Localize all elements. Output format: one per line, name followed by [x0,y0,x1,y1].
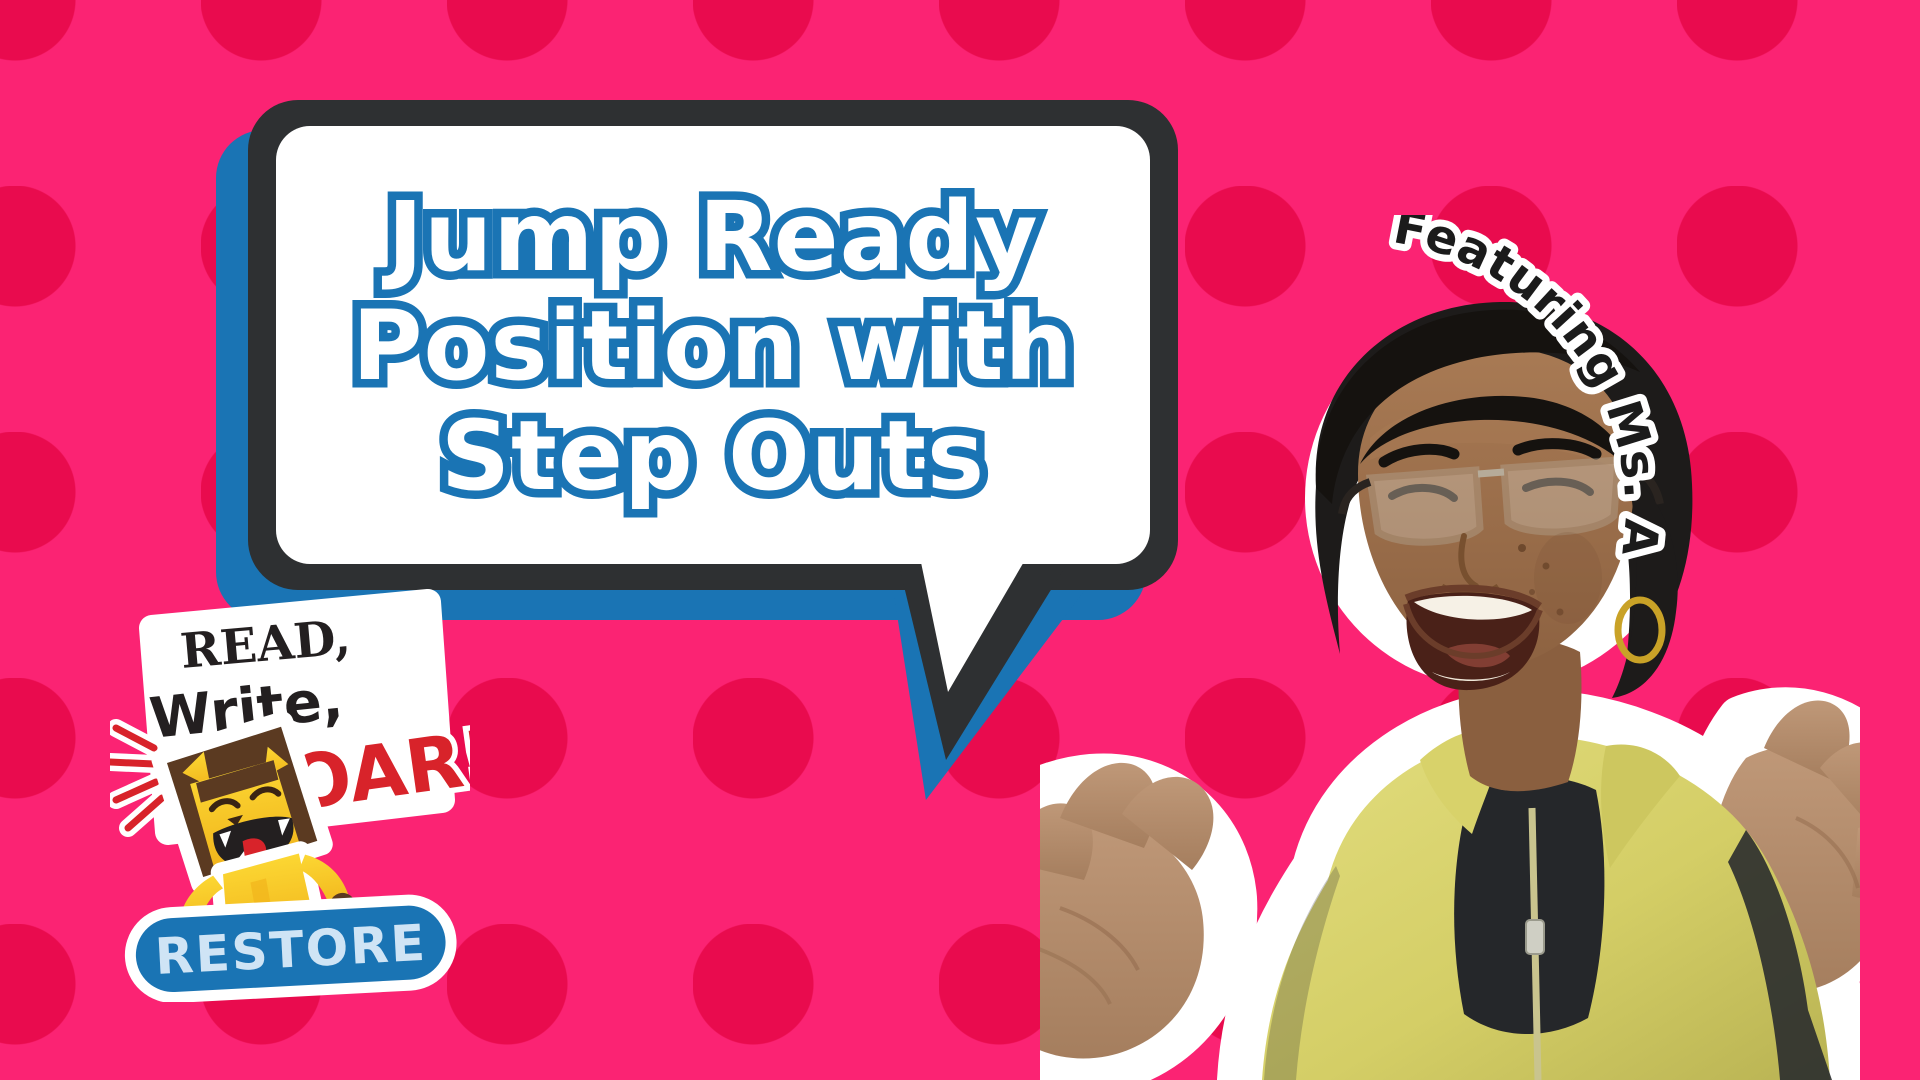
presenter-photo [1040,248,1860,1080]
read-write-roar-logo[interactable]: READ, Write, ROAR! [110,532,470,1002]
page-title: Jump Ready Position with Step Outs [276,132,1150,562]
title-line-2: Position with [352,293,1074,401]
logo-restore-banner: RESTORE [134,904,447,994]
title-line-3: Step Outs [441,403,985,511]
title-line-1: Jump Ready [387,184,1038,292]
thumbnail-canvas: Jump Ready Position with Step Outs [0,0,1920,1080]
